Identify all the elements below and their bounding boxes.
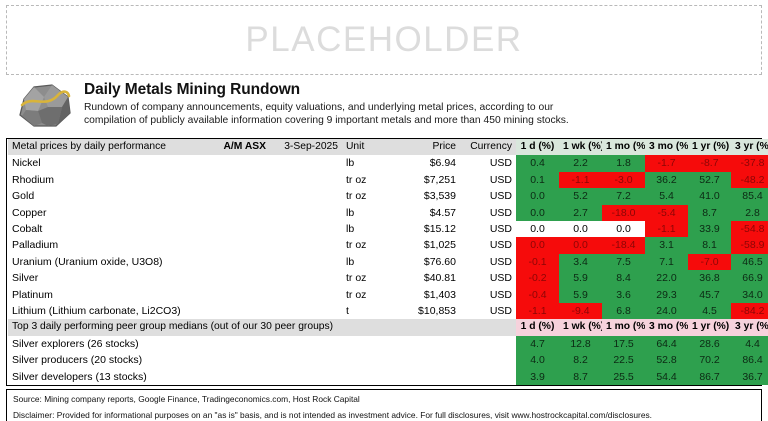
- cell-date: [270, 221, 342, 237]
- table-row[interactable]: Uranium (Uranium oxide, U3O8)lb$76.60USD…: [8, 254, 768, 270]
- cell-change-1mo: 7.5: [602, 254, 645, 270]
- cell-change-1yr: 41.0: [688, 188, 731, 204]
- cell-am-asx: [208, 155, 270, 171]
- cell-unit: lb: [342, 205, 390, 221]
- cell-price: $1,403: [390, 287, 460, 303]
- cell-unit: lb: [342, 254, 390, 270]
- cell-change-1wk: 3.4: [559, 254, 602, 270]
- cell-change-3mo: 22.0: [645, 270, 688, 286]
- cell-am-asx: [208, 188, 270, 204]
- cell-change-3yr: 36.7: [731, 369, 768, 385]
- cell-change-3mo: 54.4: [645, 369, 688, 385]
- cell-date: [270, 254, 342, 270]
- peer-table-body: Silver explorers (26 stocks)4.712.817.56…: [8, 336, 768, 385]
- cell-price: $15.12: [390, 221, 460, 237]
- cell-unit: lb: [342, 221, 390, 237]
- metal-prices-table: Metal prices by daily performance A/M AS…: [8, 139, 768, 319]
- cell-change-3mo: -1.7: [645, 155, 688, 171]
- cell-change-3yr: 86.4: [731, 352, 768, 368]
- cell-change-1d: 4.0: [516, 352, 559, 368]
- cell-change-1wk: 5.9: [559, 270, 602, 286]
- cell-change-3yr: -54.8: [731, 221, 768, 237]
- metals-table-body: Nickellb$6.94USD0.42.21.8-1.7-8.7-37.8Rh…: [8, 155, 768, 319]
- cell-metal-name: Lithium (Lithium carbonate, Li2CO3): [8, 303, 208, 319]
- cell-am-asx: [208, 287, 270, 303]
- col-header-3yr: 3 yr (%): [731, 139, 768, 155]
- cell-am-asx: [208, 221, 270, 237]
- cell-change-1mo: -18.0: [602, 205, 645, 221]
- cell-change-1wk: 2.2: [559, 155, 602, 171]
- cell-change-1mo: 8.4: [602, 270, 645, 286]
- page-subtitle-line-1: Rundown of company announcements, equity…: [84, 101, 760, 114]
- cell-change-1wk: 8.7: [559, 369, 602, 385]
- table-row[interactable]: Palladiumtr oz$1,025USD0.00.0-18.43.18.1…: [8, 237, 768, 253]
- rock-ore-icon: [12, 83, 74, 134]
- cell-currency: USD: [460, 221, 516, 237]
- cell-change-3yr: 85.4: [731, 188, 768, 204]
- cell-change-3yr: -48.2: [731, 172, 768, 188]
- cell-change-1wk: 0.0: [559, 221, 602, 237]
- cell-change-3yr: 34.0: [731, 287, 768, 303]
- cell-currency: USD: [460, 254, 516, 270]
- col-header-metal-name: Metal prices by daily performance: [8, 139, 208, 155]
- cell-change-1yr: 86.7: [688, 369, 731, 385]
- col-header-1yr: 1 yr (%): [688, 139, 731, 155]
- cell-change-1wk: 0.0: [559, 237, 602, 253]
- table-row[interactable]: Rhodiumtr oz$7,251USD0.1-1.1-3.036.252.7…: [8, 172, 768, 188]
- table-row[interactable]: Silver developers (13 stocks)3.98.725.55…: [8, 369, 768, 385]
- table-row[interactable]: Silver producers (20 stocks)4.08.222.552…: [8, 352, 768, 368]
- cell-currency: USD: [460, 287, 516, 303]
- source-line: Source: Mining company reports, Google F…: [13, 393, 755, 405]
- page-title: Daily Metals Mining Rundown: [84, 81, 760, 99]
- cell-am-asx: [208, 205, 270, 221]
- col-header-1d: 1 d (%): [516, 139, 559, 155]
- cell-change-1yr: 36.8: [688, 270, 731, 286]
- report-page: PLACEHOLDER Daily Metals Mining Rundown …: [0, 0, 768, 421]
- cell-change-3mo: 7.1: [645, 254, 688, 270]
- col-header-unit: Unit: [342, 139, 390, 155]
- table-row[interactable]: Cobaltlb$15.12USD0.00.00.0-1.133.9-54.8: [8, 221, 768, 237]
- cell-price: $4.57: [390, 205, 460, 221]
- cell-unit: tr oz: [342, 287, 390, 303]
- cell-change-1mo: 25.5: [602, 369, 645, 385]
- table-row[interactable]: Platinumtr oz$1,403USD-0.45.93.629.345.7…: [8, 287, 768, 303]
- cell-price: $40.81: [390, 270, 460, 286]
- peer-col-header-1d: 1 d (%): [516, 319, 559, 335]
- cell-change-1d: -0.2: [516, 270, 559, 286]
- cell-change-1d: 0.0: [516, 221, 559, 237]
- cell-metal-name: Nickel: [8, 155, 208, 171]
- table-row[interactable]: Goldtr oz$3,539USD0.05.27.25.441.085.4: [8, 188, 768, 204]
- cell-change-1yr: 70.2: [688, 352, 731, 368]
- peer-col-header-3mo: 3 mo (%): [645, 319, 688, 335]
- cell-unit: t: [342, 303, 390, 319]
- cell-change-3mo: 5.4: [645, 188, 688, 204]
- peer-table-header-row: Top 3 daily performing peer group median…: [8, 319, 768, 335]
- cell-metal-name: Copper: [8, 205, 208, 221]
- col-header-1wk: 1 wk (%): [559, 139, 602, 155]
- data-tables-frame: Metal prices by daily performance A/M AS…: [6, 138, 762, 386]
- cell-change-1wk: 5.9: [559, 287, 602, 303]
- cell-change-1wk: -1.1: [559, 172, 602, 188]
- cell-metal-name: Palladium: [8, 237, 208, 253]
- cell-change-3yr: 66.9: [731, 270, 768, 286]
- cell-change-1wk: 8.2: [559, 352, 602, 368]
- cell-price: $10,853: [390, 303, 460, 319]
- cell-price: $3,539: [390, 188, 460, 204]
- cell-change-3mo: -5.4: [645, 205, 688, 221]
- footer-notes: Source: Mining company reports, Google F…: [6, 389, 762, 421]
- cell-change-3mo: 3.1: [645, 237, 688, 253]
- cell-change-1yr: 52.7: [688, 172, 731, 188]
- cell-change-3yr: 4.4: [731, 336, 768, 352]
- cell-change-1mo: 22.5: [602, 352, 645, 368]
- cell-date: [270, 270, 342, 286]
- cell-change-1mo: 17.5: [602, 336, 645, 352]
- cell-change-3mo: 29.3: [645, 287, 688, 303]
- cell-change-3mo: 64.4: [645, 336, 688, 352]
- table-row[interactable]: Silvertr oz$40.81USD-0.25.98.422.036.866…: [8, 270, 768, 286]
- peer-group-table: Top 3 daily performing peer group median…: [8, 319, 768, 385]
- cell-am-asx: [208, 172, 270, 188]
- cell-unit: lb: [342, 155, 390, 171]
- peer-table-title: Top 3 daily performing peer group median…: [8, 319, 516, 335]
- page-subtitle-line-2: compilation of publicly available inform…: [84, 114, 760, 127]
- cell-currency: USD: [460, 237, 516, 253]
- cell-change-3yr: -37.8: [731, 155, 768, 171]
- cell-currency: USD: [460, 205, 516, 221]
- cell-change-3yr: 2.8: [731, 205, 768, 221]
- cell-change-1wk: 12.8: [559, 336, 602, 352]
- cell-change-1yr: 33.9: [688, 221, 731, 237]
- cell-date: [270, 155, 342, 171]
- cell-change-1d: 3.9: [516, 369, 559, 385]
- peer-col-header-1wk: 1 wk (%): [559, 319, 602, 335]
- cell-change-3yr: 46.5: [731, 254, 768, 270]
- cell-currency: USD: [460, 303, 516, 319]
- cell-change-3mo: 52.8: [645, 352, 688, 368]
- cell-unit: tr oz: [342, 172, 390, 188]
- cell-am-asx: [208, 270, 270, 286]
- cell-change-3mo: 36.2: [645, 172, 688, 188]
- cell-date: [270, 303, 342, 319]
- cell-am-asx: [208, 254, 270, 270]
- cell-metal-name: Cobalt: [8, 221, 208, 237]
- cell-change-1d: 0.4: [516, 155, 559, 171]
- cell-change-3mo: 24.0: [645, 303, 688, 319]
- cell-change-1mo: 1.8: [602, 155, 645, 171]
- cell-change-1wk: 2.7: [559, 205, 602, 221]
- cell-metal-name: Silver: [8, 270, 208, 286]
- table-row[interactable]: Silver explorers (26 stocks)4.712.817.56…: [8, 336, 768, 352]
- cell-am-asx: [208, 303, 270, 319]
- cell-change-1mo: -3.0: [602, 172, 645, 188]
- cell-metal-name: Uranium (Uranium oxide, U3O8): [8, 254, 208, 270]
- table-row[interactable]: Copperlb$4.57USD0.02.7-18.0-5.48.72.8: [8, 205, 768, 221]
- cell-price: $76.60: [390, 254, 460, 270]
- col-header-currency: Currency: [460, 139, 516, 155]
- cell-change-1wk: -9.4: [559, 303, 602, 319]
- cell-change-1yr: 8.7: [688, 205, 731, 221]
- cell-change-1mo: 3.6: [602, 287, 645, 303]
- cell-change-1d: -0.1: [516, 254, 559, 270]
- cell-change-3mo: -1.1: [645, 221, 688, 237]
- cell-change-1mo: 7.2: [602, 188, 645, 204]
- table-row[interactable]: Lithium (Lithium carbonate, Li2CO3)t$10,…: [8, 303, 768, 319]
- cell-currency: USD: [460, 155, 516, 171]
- disclaimer-line: Disclaimer: Provided for informational p…: [13, 409, 755, 421]
- cell-change-1yr: 4.5: [688, 303, 731, 319]
- cell-change-1d: 4.7: [516, 336, 559, 352]
- cell-change-1yr: -7.0: [688, 254, 731, 270]
- cell-change-3yr: -58.9: [731, 237, 768, 253]
- cell-change-1d: -0.4: [516, 287, 559, 303]
- cell-change-1mo: -18.4: [602, 237, 645, 253]
- cell-peer-group-name: Silver explorers (26 stocks): [8, 336, 516, 352]
- cell-unit: tr oz: [342, 188, 390, 204]
- placeholder-label: PLACEHOLDER: [245, 20, 522, 60]
- cell-price: $7,251: [390, 172, 460, 188]
- cell-change-1mo: 6.8: [602, 303, 645, 319]
- peer-col-header-1yr: 1 yr (%): [688, 319, 731, 335]
- cell-unit: tr oz: [342, 270, 390, 286]
- cell-currency: USD: [460, 172, 516, 188]
- col-header-3mo: 3 mo (%): [645, 139, 688, 155]
- col-header-date: 3-Sep-2025: [270, 139, 342, 155]
- placeholder-banner: PLACEHOLDER: [6, 5, 762, 75]
- cell-date: [270, 205, 342, 221]
- cell-change-1yr: 45.7: [688, 287, 731, 303]
- cell-change-1d: 0.0: [516, 188, 559, 204]
- cell-change-1d: 0.0: [516, 237, 559, 253]
- col-header-price: Price: [390, 139, 460, 155]
- cell-am-asx: [208, 237, 270, 253]
- cell-date: [270, 287, 342, 303]
- cell-date: [270, 237, 342, 253]
- cell-change-1mo: 0.0: [602, 221, 645, 237]
- cell-change-1d: 0.0: [516, 205, 559, 221]
- cell-unit: tr oz: [342, 237, 390, 253]
- cell-price: $6.94: [390, 155, 460, 171]
- metals-table-header-row: Metal prices by daily performance A/M AS…: [8, 139, 768, 155]
- cell-change-3yr: -84.2: [731, 303, 768, 319]
- cell-metal-name: Gold: [8, 188, 208, 204]
- table-row[interactable]: Nickellb$6.94USD0.42.21.8-1.7-8.7-37.8: [8, 155, 768, 171]
- cell-change-1d: -1.1: [516, 303, 559, 319]
- cell-metal-name: Rhodium: [8, 172, 208, 188]
- report-header: Daily Metals Mining Rundown Rundown of c…: [6, 75, 762, 138]
- peer-col-header-3yr: 3 yr (%): [731, 319, 768, 335]
- cell-metal-name: Platinum: [8, 287, 208, 303]
- cell-change-1d: 0.1: [516, 172, 559, 188]
- cell-date: [270, 188, 342, 204]
- col-header-1mo: 1 mo (%): [602, 139, 645, 155]
- peer-col-header-1mo: 1 mo (%): [602, 319, 645, 335]
- cell-currency: USD: [460, 270, 516, 286]
- cell-peer-group-name: Silver developers (13 stocks): [8, 369, 516, 385]
- col-header-am-asx: A/M ASX: [208, 139, 270, 155]
- cell-date: [270, 172, 342, 188]
- cell-change-1wk: 5.2: [559, 188, 602, 204]
- cell-change-1yr: -8.7: [688, 155, 731, 171]
- cell-peer-group-name: Silver producers (20 stocks): [8, 352, 516, 368]
- cell-price: $1,025: [390, 237, 460, 253]
- cell-currency: USD: [460, 188, 516, 204]
- cell-change-1yr: 8.1: [688, 237, 731, 253]
- cell-change-1yr: 28.6: [688, 336, 731, 352]
